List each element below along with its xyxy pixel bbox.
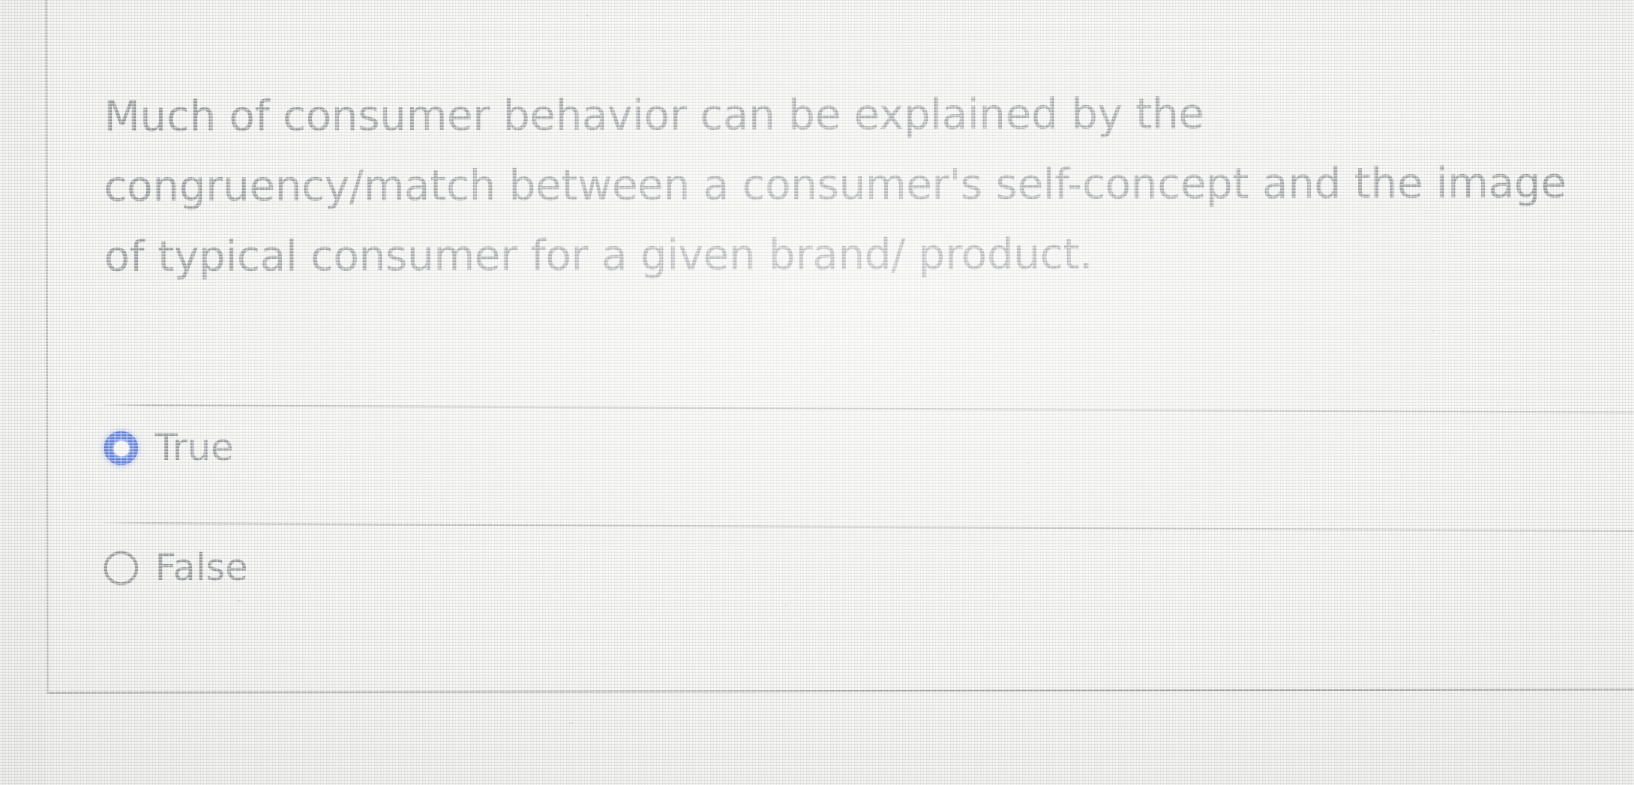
option-label-false: False: [155, 548, 248, 588]
quiz-screen-photo: Much of consumer behavior can be explain…: [0, 0, 1634, 785]
option-row-false[interactable]: False: [104, 548, 248, 588]
option-row-true[interactable]: True: [104, 428, 234, 468]
radio-selected-icon[interactable]: [104, 431, 138, 465]
photo-speck: [569, 722, 573, 724]
radio-unselected-icon[interactable]: [104, 551, 138, 585]
page-left-gutter: [0, 0, 46, 785]
question-prompt: Much of consumer behavior can be explain…: [104, 78, 1575, 292]
option-label-true: True: [155, 428, 234, 468]
